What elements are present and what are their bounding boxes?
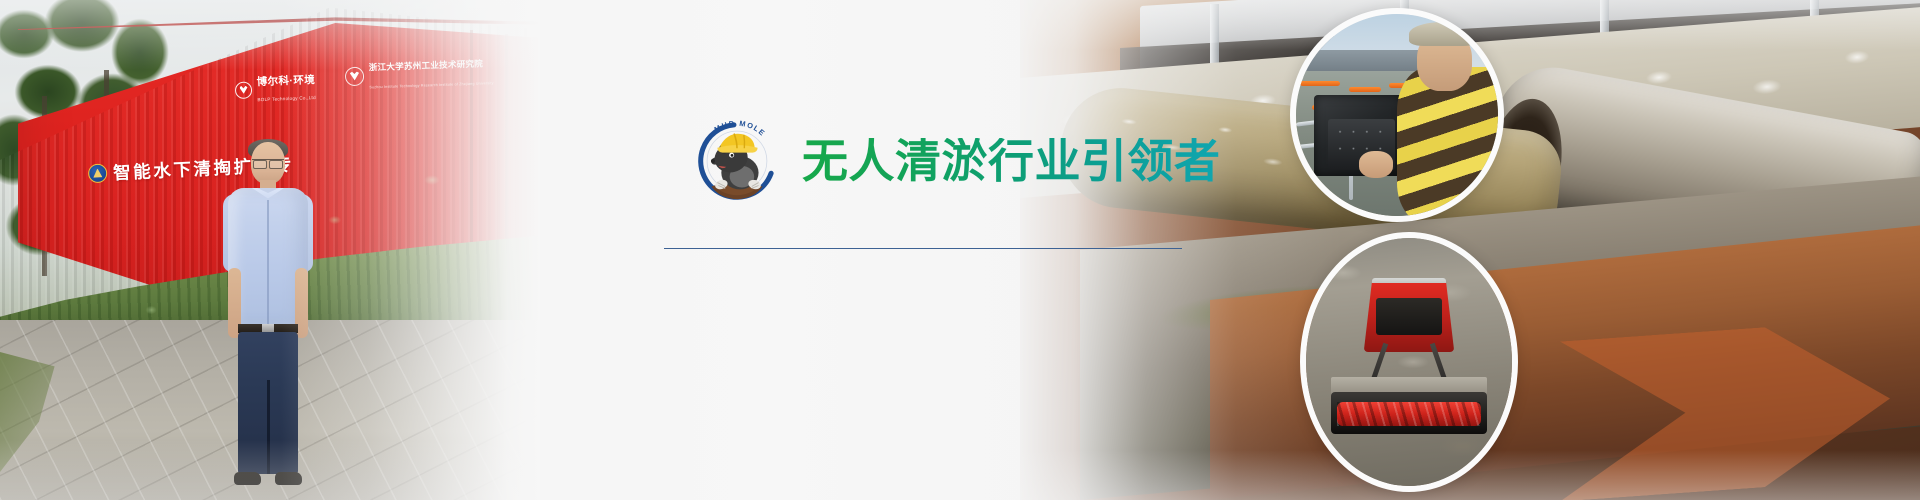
headline-divider [664,248,1182,249]
floating-boom [1349,87,1381,92]
center-content: MUD MOLE 无人清淤行业引领者 [660,0,1200,500]
auger-screw [1337,402,1481,427]
headline-text: 无人清淤行业引领者 [802,138,1221,184]
auger-flighting [1337,402,1481,427]
operator-hand [1359,151,1393,177]
inset-photo-operator [1290,8,1504,222]
inset-photo-dredging-robot [1300,232,1518,492]
floating-boom [1300,81,1340,86]
left-photo: 博尔科·环境 BOLP Technology Co.,Ltd 浙江大学苏州工业技… [0,0,540,500]
mud-mole-logo-icon[interactable]: MUD MOLE [688,112,786,210]
inset-mud-texture [1306,238,1512,486]
hero-banner: 博尔科·环境 BOLP Technology Co.,Ltd 浙江大学苏州工业技… [0,0,1920,500]
left-photo-vignette [0,0,540,500]
robot-inner-bay [1376,298,1442,335]
brand-lockup[interactable]: MUD MOLE 无人清淤行业引领者 [688,112,1221,210]
operator-hat [1409,22,1478,46]
